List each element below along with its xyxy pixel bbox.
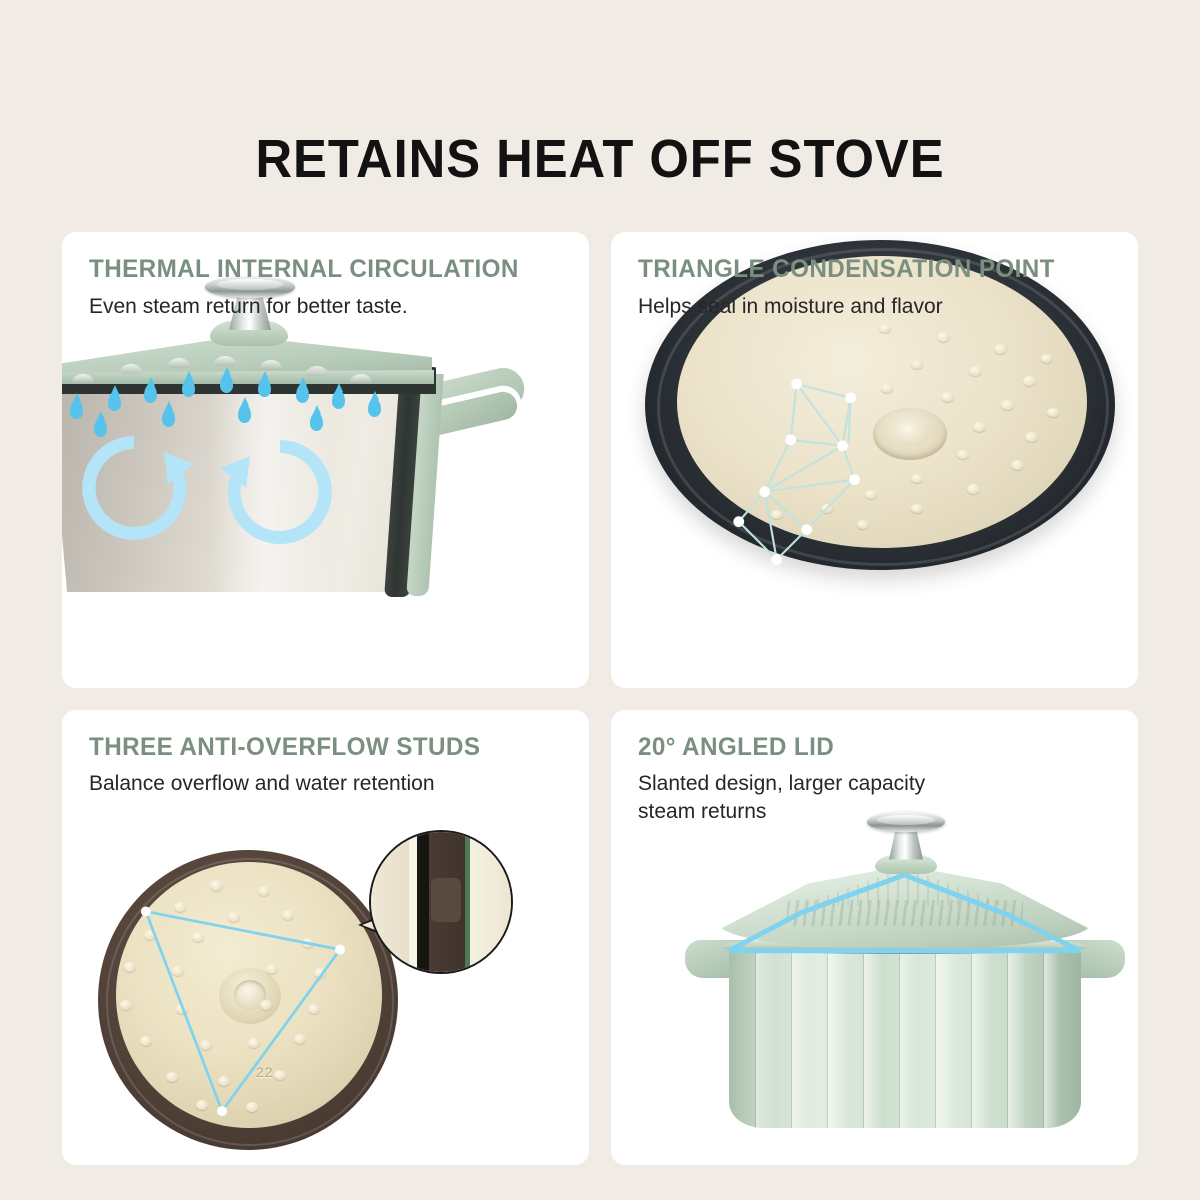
- callout-band-cream-right: [470, 832, 511, 972]
- water-droplet: [70, 400, 83, 419]
- lid-ridge: [120, 364, 142, 374]
- callout-magnifier-bubble: [369, 830, 513, 974]
- callout-band-cream: [371, 832, 409, 972]
- water-droplet: [368, 398, 381, 417]
- circulation-arrow-clockwise: [68, 422, 200, 554]
- feature-card-thermal-circulation: THERMAL INTERNAL CIRCULATION Even steam …: [62, 232, 589, 688]
- lid-top-illustration: 22: [62, 828, 589, 1166]
- lid-ridge: [350, 374, 372, 384]
- card-title: TRIANGLE CONDENSATION POINT: [638, 256, 1107, 284]
- lid-ridge: [260, 360, 282, 370]
- card-title: THREE ANTI-OVERFLOW STUDS: [89, 734, 558, 762]
- water-droplet: [238, 404, 251, 423]
- card-subtitle-line1: Slanted design, larger capacity: [638, 772, 925, 795]
- water-droplet: [220, 374, 233, 393]
- page-title: RETAINS HEAT OFF STOVE: [36, 128, 1164, 190]
- water-droplet: [296, 384, 309, 403]
- card-subtitle: Balance overflow and water retention: [89, 770, 573, 798]
- feature-card-grid: THERMAL INTERNAL CIRCULATION Even steam …: [62, 232, 1138, 1165]
- lid-ridge: [168, 358, 190, 368]
- feature-card-angled-lid: 20° ANGLED LID Slanted design, larger ca…: [611, 710, 1138, 1166]
- water-droplet: [332, 390, 345, 409]
- circulation-arrow-counterclockwise: [214, 426, 346, 558]
- feature-card-anti-overflow-studs: 22: [62, 710, 589, 1166]
- water-droplet: [182, 378, 195, 397]
- lid-ridge: [214, 356, 236, 366]
- card-header: TRIANGLE CONDENSATION POINT Helps seal i…: [638, 256, 1122, 320]
- callout-stud-detail: [431, 878, 461, 922]
- callout-band-black: [417, 832, 429, 972]
- card-title: 20° ANGLED LID: [638, 734, 1107, 762]
- water-droplet: [144, 384, 157, 403]
- water-droplet: [108, 392, 121, 411]
- card-subtitle: Helps seal in moisture and flavor: [638, 293, 1122, 321]
- water-droplet: [258, 378, 271, 397]
- lid-ridge: [306, 366, 328, 376]
- card-subtitle: Even steam return for better taste.: [89, 293, 573, 321]
- dutch-oven-illustration: [611, 788, 1138, 1166]
- lid-ridge: [72, 374, 94, 384]
- card-header: 20° ANGLED LID Slanted design, larger ca…: [638, 734, 1122, 826]
- card-subtitle: Slanted design, larger capacity steam re…: [638, 770, 1122, 825]
- angle-overlay-20-degrees: [611, 788, 1138, 1166]
- card-header: THERMAL INTERNAL CIRCULATION Even steam …: [89, 256, 573, 320]
- card-title: THERMAL INTERNAL CIRCULATION: [89, 256, 558, 284]
- card-subtitle-line2: steam returns: [638, 798, 1122, 826]
- feature-card-triangle-condensation: TRIANGLE CONDENSATION POINT Helps seal i…: [611, 232, 1138, 688]
- card-header: THREE ANTI-OVERFLOW STUDS Balance overfl…: [89, 734, 573, 798]
- infographic-page: RETAINS HEAT OFF STOVE: [0, 0, 1200, 1200]
- callout-band-light: [409, 832, 417, 972]
